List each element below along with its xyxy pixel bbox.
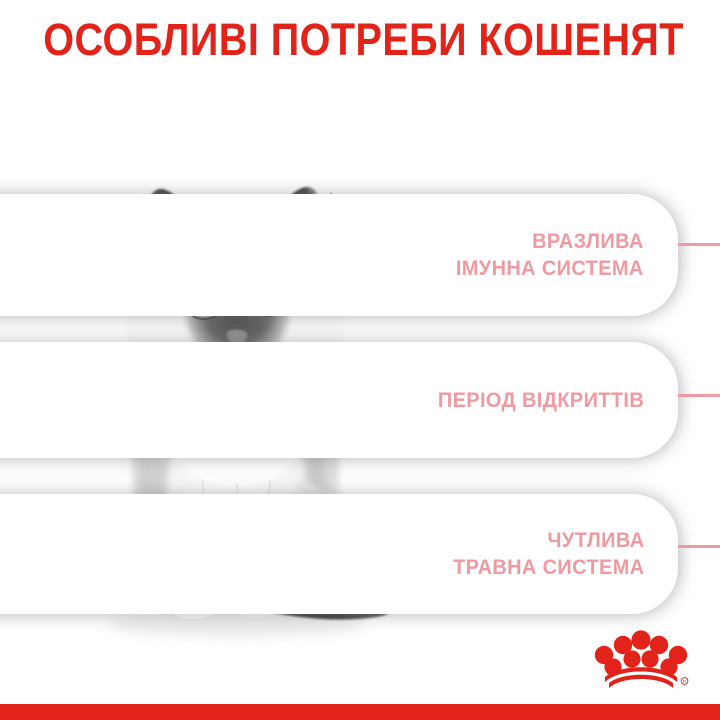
feature-card-discovery[interactable]: ПЕРІОД ВІДКРИТТІВ [0, 342, 678, 458]
registered-mark-icon: R [681, 678, 688, 685]
poster-root: ОСОБЛИВІ ПОТРЕБИ КОШЕНЯТ [0, 0, 720, 720]
feature-label-immune: ВРАЗЛИВА ІМУННА СИСТЕМА [456, 228, 644, 282]
feature-label-digestive: ЧУТЛИВА ТРАВНА СИСТЕМА [453, 527, 644, 581]
svg-text:R: R [683, 679, 686, 684]
royal-canin-crown-logo[interactable]: R [592, 626, 690, 688]
page-title: ОСОБЛИВІ ПОТРЕБИ КОШЕНЯТ [43, 14, 677, 66]
feature-connector-digestive [678, 545, 720, 548]
bottom-red-bar [0, 704, 720, 720]
feature-connector-discovery [678, 394, 720, 397]
feature-card-digestive[interactable]: ЧУТЛИВА ТРАВНА СИСТЕМА [0, 494, 678, 614]
feature-connector-immune [678, 243, 720, 246]
feature-card-immune[interactable]: ВРАЗЛИВА ІМУННА СИСТЕМА [0, 194, 678, 316]
feature-label-discovery: ПЕРІОД ВІДКРИТТІВ [438, 387, 644, 414]
